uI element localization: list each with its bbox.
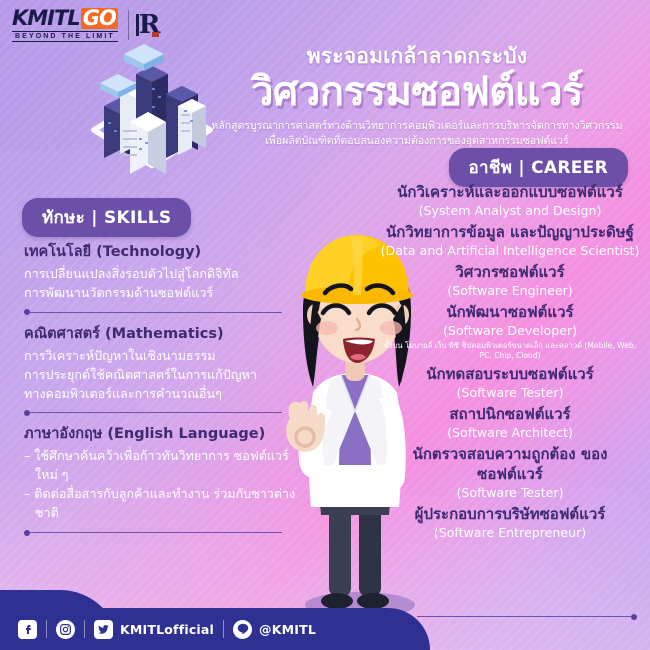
skill-item: คณิตศาสตร์ (Mathematics) การวิเคราะห์ปัญ… <box>24 322 296 404</box>
skill-line: การวิเคราะห์ปัญหาในเชิงนามธรรม <box>24 347 296 366</box>
partner-logo-dot <box>152 32 159 37</box>
skill-heading: ภาษาอังกฤษ (English Language) <box>24 422 296 445</box>
career-title-th: วิศวกรซอฟต์แวร์ <box>380 262 640 282</box>
career-item: นักวิเคราะห์และออกแบบซอฟต์แวร์ (System A… <box>380 182 640 220</box>
header-subtitle-1: หลักสูตรบูรณาการศาสตร์ทางด้านวิทยาการคอม… <box>202 119 632 134</box>
career-title-th: นักตรวจสอบความถูกต้อง ของซอฟต์แวร์ <box>380 444 640 485</box>
instagram-icon[interactable] <box>56 620 75 639</box>
career-title-th: สถาปนิกซอฟต์แวร์ <box>380 404 640 424</box>
partner-logo-bar <box>136 14 139 36</box>
career-item: ผู้ประกอบการบริษัทซอฟต์แวร์ (Software En… <box>380 504 640 542</box>
logo-row: KMITL GO BEYOND THE LIMIT R <box>12 8 160 42</box>
career-title-en: (Data and Artificial Intelligence Scient… <box>380 242 640 260</box>
skill-item: เทคโนโลยี (Technology) การเปลี่ยนแปลงสิ่… <box>24 240 296 303</box>
career-item: นักทดสอบระบบซอฟต์แวร์ (Software Tester) <box>380 364 640 402</box>
career-title-th: นักพัฒนาซอฟต์แวร์ <box>380 302 640 322</box>
skill-line: การพัฒนานวัตกรรมด้านซอฟต์แวร์ <box>24 284 296 303</box>
logo-divider <box>128 10 129 40</box>
kmitl-logo: KMITL GO BEYOND THE LIMIT <box>12 8 118 42</box>
footer-separator <box>46 620 47 638</box>
skill-item: ภาษาอังกฤษ (English Language) – ใช้ศึกษา… <box>24 422 296 523</box>
career-item: วิศวกรซอฟต์แวร์ (Software Engineer) <box>380 262 640 300</box>
skills-divider <box>30 532 282 533</box>
header-titles: พระจอมเกล้าลาดกระบัง วิศวกรรมซอฟต์แวร์ ห… <box>202 40 632 149</box>
twitter-handle[interactable]: KMITLofficial <box>120 622 214 637</box>
career-title-en: (Software Tester) <box>380 484 640 502</box>
kmitl-go-mark: GO <box>81 8 118 29</box>
skill-bullet: – ใช้ศึกษาค้นคว้าเพื่อก้าวทันวิทยาการ ซอ… <box>24 447 296 485</box>
career-title-en: (Software Entrepreneur) <box>380 524 640 542</box>
isometric-city-illustration <box>82 30 222 180</box>
career-title-en: (System Analyst and Design) <box>380 202 640 220</box>
footer-separator <box>223 620 224 638</box>
kmitl-tagline: BEYOND THE LIMIT <box>12 31 118 42</box>
career-title-en: (Software Architect) <box>380 424 640 442</box>
line-icon[interactable] <box>233 620 252 639</box>
career-title-th: นักวิเคราะห์และออกแบบซอฟต์แวร์ <box>380 182 640 202</box>
partner-logo: R <box>139 12 161 38</box>
page-title: วิศวกรรมซอฟต์แวร์ <box>202 71 632 113</box>
career-title-en: (Software Tester) <box>380 384 640 402</box>
career-title-en: (Software Engineer) <box>380 282 640 300</box>
skills-divider <box>30 412 282 413</box>
skill-bullet: – ติดต่อสื่อสารกับลูกค้าและทำงาน ร่วมกับ… <box>24 485 296 523</box>
facebook-icon[interactable] <box>18 620 37 639</box>
skill-heading: คณิตศาสตร์ (Mathematics) <box>24 322 296 345</box>
career-item: สถาปนิกซอฟต์แวร์ (Software Architect) <box>380 404 640 442</box>
skill-line: ทางคอมพิวเตอร์และการคำนวณอื่นๆ <box>24 385 296 404</box>
skills-panel: เทคโนโลยี (Technology) การเปลี่ยนแปลงสิ่… <box>24 240 296 542</box>
skill-line: การเปลี่ยนแปลงสิ่งรอบตัวไปสู่โลกดิจิทัล <box>24 265 296 284</box>
kmitl-wordmark: KMITL <box>12 8 80 29</box>
skill-heading: เทคโนโลยี (Technology) <box>24 240 296 263</box>
career-title-th: นักวิทยาการข้อมูล และปัญญาประดิษฐ์ <box>380 222 640 242</box>
career-item: นักวิทยาการข้อมูล และปัญญาประดิษฐ์ (Data… <box>380 222 640 260</box>
skills-badge: ทักษะ | SKILLS <box>22 198 191 237</box>
career-title-en: (Software Developer) <box>380 322 640 340</box>
kmitl-logo-top: KMITL GO <box>12 8 118 29</box>
career-note: ทั้งบน โมบายล์ เว็บ พีซี ชิปคอมพิวเตอร์ข… <box>380 341 640 362</box>
infographic-poster: KMITL GO BEYOND THE LIMIT R <box>0 0 650 650</box>
career-item: นักตรวจสอบความถูกต้อง ของซอฟต์แวร์ (Soft… <box>380 444 640 502</box>
career-title-th: ผู้ประกอบการบริษัทซอฟต์แวร์ <box>380 504 640 524</box>
career-item: นักพัฒนาซอฟต์แวร์ (Software Developer) ท… <box>380 302 640 361</box>
skill-line: การประยุกต์ใช้คณิตศาสตร์ในการแก้ปัญหา <box>24 366 296 385</box>
skills-divider <box>30 312 282 313</box>
career-panel: นักวิเคราะห์และออกแบบซอฟต์แวร์ (System A… <box>380 182 640 544</box>
bottom-divider <box>417 616 632 617</box>
footer-bar: KMITLofficial @KMITL <box>0 608 430 650</box>
footer-separator <box>84 620 85 638</box>
twitter-icon[interactable] <box>94 620 113 639</box>
line-handle[interactable]: @KMITL <box>259 622 316 637</box>
career-title-th: นักทดสอบระบบซอฟต์แวร์ <box>380 364 640 384</box>
